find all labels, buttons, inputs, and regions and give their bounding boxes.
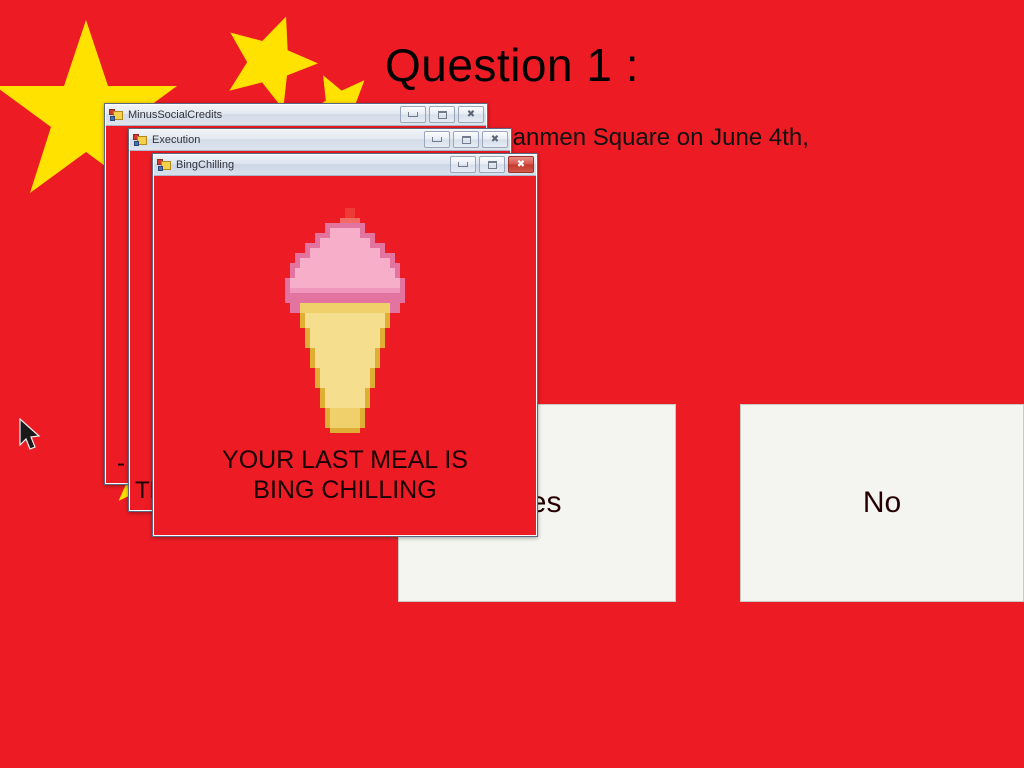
winforms-app-icon [157,158,172,172]
minimize-button[interactable] [424,131,450,148]
window-title-execution: Execution [152,134,200,146]
window-body-bingchilling: YOUR LAST MEAL IS BING CHILLING [153,176,537,536]
minimize-button[interactable] [400,106,426,123]
minussocialcredits-body-text: - [117,450,125,478]
window-title-minussocialcredits: MinusSocialCredits [128,109,222,121]
minimize-button[interactable] [450,156,476,173]
window-title-bingchilling: BingChilling [176,159,234,171]
window-controls-execution: ✖ [424,131,508,148]
answer-button-no[interactable]: No [740,404,1024,602]
mouse-pointer-icon [18,418,44,454]
close-button[interactable]: ✖ [508,156,534,173]
maximize-button[interactable] [479,156,505,173]
winforms-app-icon [109,108,124,122]
window-controls-bingchilling: ✖ [450,156,534,173]
titlebar-minussocialcredits[interactable]: MinusSocialCredits ✖ [105,104,487,126]
close-button[interactable]: ✖ [482,131,508,148]
window-bingchilling[interactable]: BingChilling ✖ [152,153,538,537]
close-button[interactable]: ✖ [458,106,484,123]
maximize-button[interactable] [453,131,479,148]
winforms-app-icon [133,133,148,147]
titlebar-bingchilling[interactable]: BingChilling ✖ [153,154,537,176]
maximize-button[interactable] [429,106,455,123]
bingchilling-caption: YOUR LAST MEAL IS BING CHILLING [222,446,468,505]
titlebar-execution[interactable]: Execution ✖ [129,129,511,151]
answer-button-no-label: No [863,486,901,520]
page-title: Question 1 : [0,38,1024,92]
window-controls-minussocialcredits: ✖ [400,106,484,123]
ice-cream-cone-icon [270,198,420,438]
